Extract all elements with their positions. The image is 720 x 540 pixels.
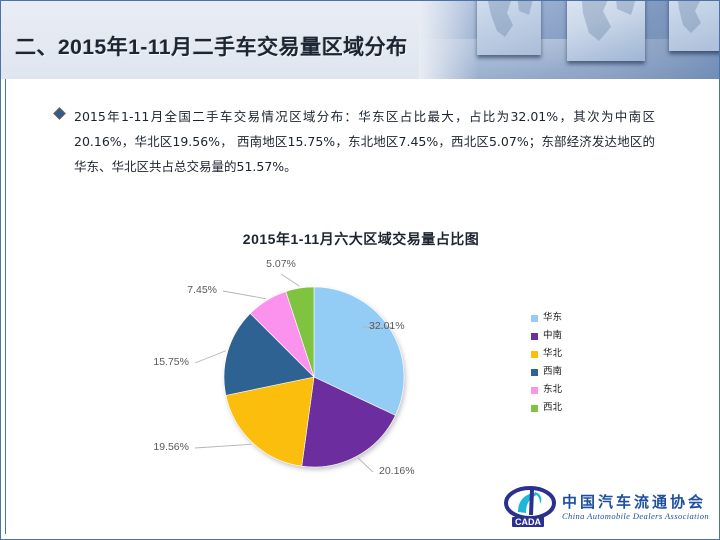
legend-swatch-icon bbox=[531, 387, 538, 394]
world-map-icon bbox=[477, 1, 541, 55]
logo-mark-icon: CADA bbox=[504, 485, 558, 529]
pie-label-xibei: 5.07% bbox=[259, 258, 303, 270]
header-art-fade bbox=[419, 1, 479, 79]
legend-label: 中南 bbox=[543, 331, 562, 341]
legend-swatch-icon bbox=[531, 405, 538, 412]
legend-item: 华北 bbox=[531, 345, 562, 363]
slide-header: 二、2015年1-11月二手车交易量区域分布 bbox=[1, 1, 719, 79]
page-title: 二、2015年1-11月二手车交易量区域分布 bbox=[15, 31, 408, 61]
logo-text: 中国汽车流通协会 China Automobile Dealers Associ… bbox=[562, 493, 709, 522]
legend-label: 华北 bbox=[543, 349, 562, 359]
pie-chart: 32.01% 20.16% 19.56% 15.75% 7.45% 5.07% … bbox=[141, 251, 581, 496]
legend-label: 西北 bbox=[543, 403, 562, 413]
chart-title: 2015年1-11月六大区域交易量占比图 bbox=[1, 229, 720, 249]
legend-swatch-icon bbox=[531, 351, 538, 358]
pie-slices bbox=[224, 287, 404, 467]
pie-leader-line bbox=[195, 444, 251, 448]
header-decoration-cubes bbox=[419, 1, 719, 79]
cada-swoosh-icon: CADA bbox=[504, 485, 558, 529]
logo-name-en: China Automobile Dealers Association bbox=[562, 511, 709, 522]
pie-label-zhongnan: 20.16% bbox=[379, 465, 415, 477]
logo-name-cn: 中国汽车流通协会 bbox=[562, 493, 709, 511]
pie-label-dongbei: 7.45% bbox=[141, 284, 217, 296]
chart-legend: 华东中南华北西南东北西北 bbox=[531, 309, 562, 417]
decorative-cube-icon bbox=[477, 1, 541, 55]
logo-badge-text: CADA bbox=[515, 517, 541, 527]
legend-swatch-icon bbox=[531, 369, 538, 376]
pie-label-xinan: 15.75% bbox=[141, 356, 189, 368]
cada-logo: CADA 中国汽车流通协会 China Automobile Dealers A… bbox=[504, 483, 709, 531]
legend-item: 西北 bbox=[531, 399, 562, 417]
pie-label-huabei: 19.56% bbox=[141, 441, 189, 453]
pie-label-huadong: 32.01% bbox=[369, 320, 405, 332]
pie-leader-line bbox=[195, 351, 226, 363]
pie-leader-line bbox=[358, 458, 373, 472]
legend-swatch-icon bbox=[531, 315, 538, 322]
legend-item: 东北 bbox=[531, 381, 562, 399]
pie-leader-line bbox=[223, 291, 266, 299]
pie-leader-line bbox=[281, 274, 299, 286]
pie-plot-area: 32.01% 20.16% 19.56% 15.75% 7.45% 5.07% bbox=[141, 251, 501, 496]
bullet-block: 2015年1-11月全国二手车交易情况区域分布：华东区占比最大，占比为32.01… bbox=[55, 104, 655, 179]
legend-item: 西南 bbox=[531, 363, 562, 381]
legend-label: 东北 bbox=[543, 385, 562, 395]
legend-label: 华东 bbox=[543, 313, 562, 323]
legend-item: 华东 bbox=[531, 309, 562, 327]
decorative-cube-icon bbox=[669, 1, 719, 51]
legend-label: 西南 bbox=[543, 367, 562, 377]
world-map-icon bbox=[567, 1, 645, 61]
legend-item: 中南 bbox=[531, 327, 562, 345]
diamond-bullet-icon bbox=[53, 107, 66, 120]
world-map-icon bbox=[669, 1, 719, 51]
decorative-cube-icon bbox=[567, 1, 645, 61]
bullet-text: 2015年1-11月全国二手车交易情况区域分布：华东区占比最大，占比为32.01… bbox=[74, 104, 655, 179]
legend-swatch-icon bbox=[531, 333, 538, 340]
slide: 二、2015年1-11月二手车交易量区域分布 2015年1-11月全国二手车交易… bbox=[0, 0, 720, 540]
left-accent-rule bbox=[5, 79, 6, 534]
bullet-item: 2015年1-11月全国二手车交易情况区域分布：华东区占比最大，占比为32.01… bbox=[55, 104, 655, 179]
